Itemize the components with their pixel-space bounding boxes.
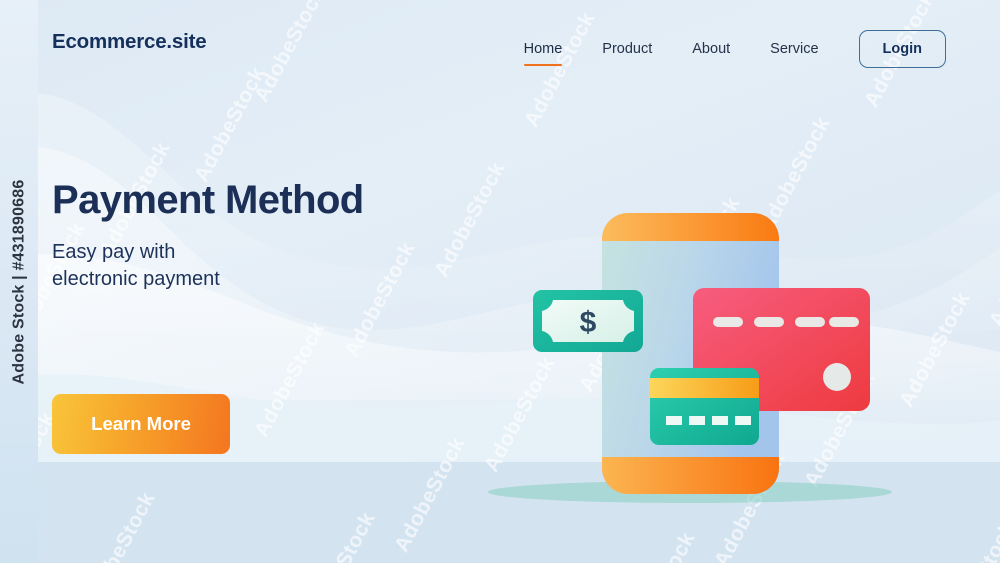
- site-header: Ecommerce.site Home Product About Servic…: [0, 0, 1000, 95]
- credit-card-red: [693, 288, 870, 411]
- watermark-text: AdobeStock: [80, 488, 161, 563]
- learn-more-button[interactable]: Learn More: [52, 394, 230, 454]
- watermark-text: AdobeStock: [575, 273, 656, 396]
- watermark-text: AdobeStock: [940, 518, 1000, 563]
- stock-credit-text: Adobe Stock | #431890686: [10, 179, 28, 384]
- watermark-text: AdobeStock: [800, 368, 881, 491]
- site-logo[interactable]: Ecommerce.site: [52, 30, 206, 54]
- watermark-text: AdobeStock: [710, 448, 791, 563]
- hero-subtitle-line2: electronic payment: [52, 268, 220, 290]
- nav-item-about[interactable]: About: [692, 41, 730, 66]
- phone-body: [602, 213, 779, 494]
- watermark-text: AdobeStock: [620, 528, 701, 563]
- login-button[interactable]: Login: [859, 30, 946, 68]
- watermark-text: AdobeStock: [985, 208, 1000, 331]
- watermark-text: AdobeStock: [895, 288, 976, 411]
- watermark-text: AdobeStock: [480, 353, 561, 476]
- watermark-text: AdobeStock: [300, 508, 381, 563]
- nav-item-product[interactable]: Product: [602, 41, 652, 66]
- watermark-text: AdobeStock: [250, 318, 331, 441]
- banknote: $: [533, 290, 643, 352]
- hero-subtitle: Easy pay with electronic payment: [52, 239, 364, 294]
- credit-card-green: [650, 368, 759, 445]
- hero-copy: Payment Method Easy pay with electronic …: [52, 178, 364, 294]
- page-root: AdobeStock AdobeStock AdobeStock AdobeSt…: [0, 0, 1000, 563]
- watermark-text: AdobeStock: [430, 158, 511, 281]
- stock-credit-bar: Adobe Stock | #431890686: [0, 0, 38, 563]
- svg-text:$: $: [580, 306, 597, 339]
- watermark-text: AdobeStock: [755, 113, 836, 236]
- page-title: Payment Method: [52, 178, 364, 223]
- nav-item-service[interactable]: Service: [770, 41, 818, 66]
- main-nav: Home Product About Service Login: [524, 30, 946, 77]
- phone-shadow: [488, 481, 892, 503]
- watermark-text: AdobeStock: [665, 193, 746, 316]
- hero-subtitle-line1: Easy pay with: [52, 241, 175, 263]
- nav-item-home[interactable]: Home: [524, 41, 563, 66]
- watermark-text: AdobeStock: [390, 433, 471, 556]
